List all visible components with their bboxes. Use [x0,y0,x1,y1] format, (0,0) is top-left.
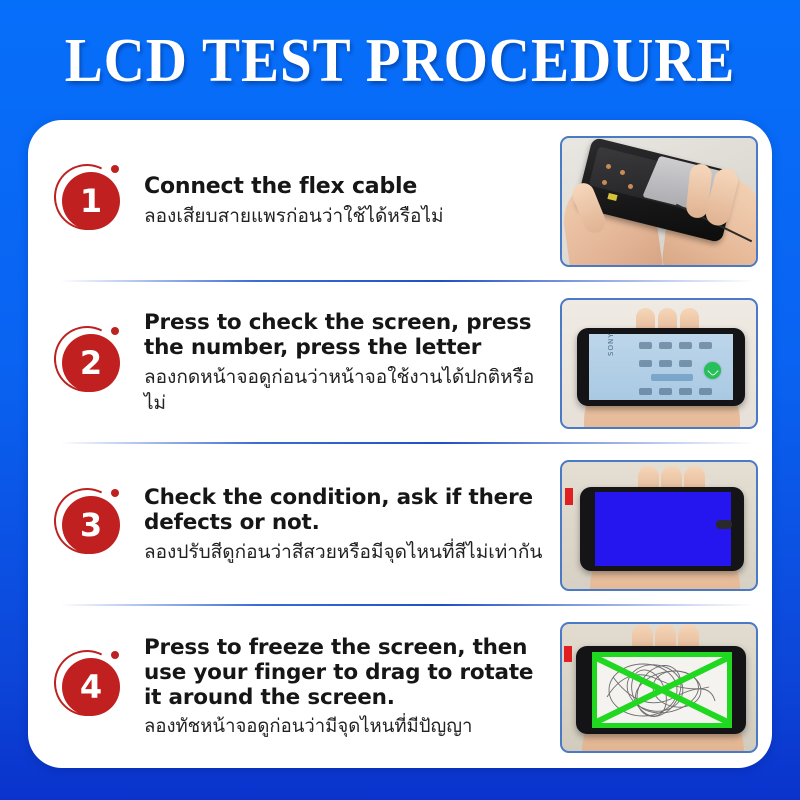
step-badge-1: 1 [54,164,128,238]
step-title-th: ลองปรับสีดูก่อนว่าสีสวยหรือมีจุดไหนที่สี… [144,539,550,565]
badge-dot-icon [111,651,119,659]
step-row-4: 4 Press to freeze the screen, then use y… [28,606,772,768]
step-text-1: Connect the flex cable ลองเสียบสายแพรก่อ… [144,174,560,229]
step-row-1: 1 Connect the flex cable ลองเสียบสายแพรก… [28,120,772,282]
board-dot [620,170,625,175]
photo-blue-screen-color-test [560,460,758,591]
step-number: 3 [80,509,102,541]
step-badge-2: 2 [54,326,128,400]
keypad-key [659,342,672,349]
step-title-th: ลองกดหน้าจอดูก่อนว่าหน้าจอใช้งานได้ปกติห… [144,364,550,416]
badge-dot-icon [111,165,119,173]
step-badge-4: 4 [54,650,128,724]
badge-disc: 1 [62,172,120,230]
phone-screen-touch-test [592,652,732,728]
keypad-key [659,360,672,367]
board-dot [628,184,633,189]
page-title: LCD TEST PROCEDURE [32,28,768,94]
step-title-th: ลองเสียบสายแพรก่อนว่าใช้ได้หรือไม่ [144,203,550,229]
phone-screen-blue [595,492,731,566]
badge-dot-icon [111,489,119,497]
step-title-en: Press to freeze the screen, then use you… [144,635,550,710]
step-row-3: 3 Check the condition, ask if there defe… [28,444,772,606]
step-text-2: Press to check the screen, press the num… [144,310,560,416]
badge-disc: 4 [62,658,120,716]
step-title-en: Connect the flex cable [144,174,550,199]
number-field [651,374,693,381]
title-bar: LCD TEST PROCEDURE [0,28,800,94]
badge-dot-icon [111,327,119,335]
step-text-3: Check the condition, ask if there defect… [144,485,560,565]
photo-flex-cable-connect [560,136,758,267]
step-number: 1 [80,185,102,217]
screen-label: SONY [607,332,615,355]
step-text-4: Press to freeze the screen, then use you… [144,635,560,740]
call-button-icon [704,362,721,379]
photo-touch-drag-test [560,622,758,753]
badge-disc: 2 [62,334,120,392]
keypad-key [699,342,712,349]
board-dot [606,164,611,169]
step-title-en: Check the condition, ask if there defect… [144,485,550,535]
keypad-key [639,388,652,395]
keypad-key [639,360,652,367]
step-title-en: Press to check the screen, press the num… [144,310,550,360]
steps-list: 1 Connect the flex cable ลองเสียบสายแพรก… [28,120,772,768]
keypad-key [679,342,692,349]
step-title-th: ลองทัชหน้าจอดูก่อนว่ามีจุดไหนที่มีปัญญา [144,714,550,740]
photo-dialer-keypad-test: SONY [560,298,758,429]
keypad-key [699,388,712,395]
home-button-shape [716,520,732,529]
procedure-card: 1 Connect the flex cable ลองเสียบสายแพรก… [28,120,772,768]
step-number: 4 [80,671,102,703]
keypad-key [679,388,692,395]
keypad-key [659,388,672,395]
phone-screen: SONY [589,334,733,400]
badge-disc: 3 [62,496,120,554]
step-badge-3: 3 [54,488,128,562]
step-number: 2 [80,347,102,379]
step-row-2: 2 Press to check the screen, press the n… [28,282,772,444]
keypad-key [639,342,652,349]
red-marker-shape [564,646,572,662]
board-dot [602,180,607,185]
red-marker-shape [565,488,573,505]
keypad-key [679,360,692,367]
